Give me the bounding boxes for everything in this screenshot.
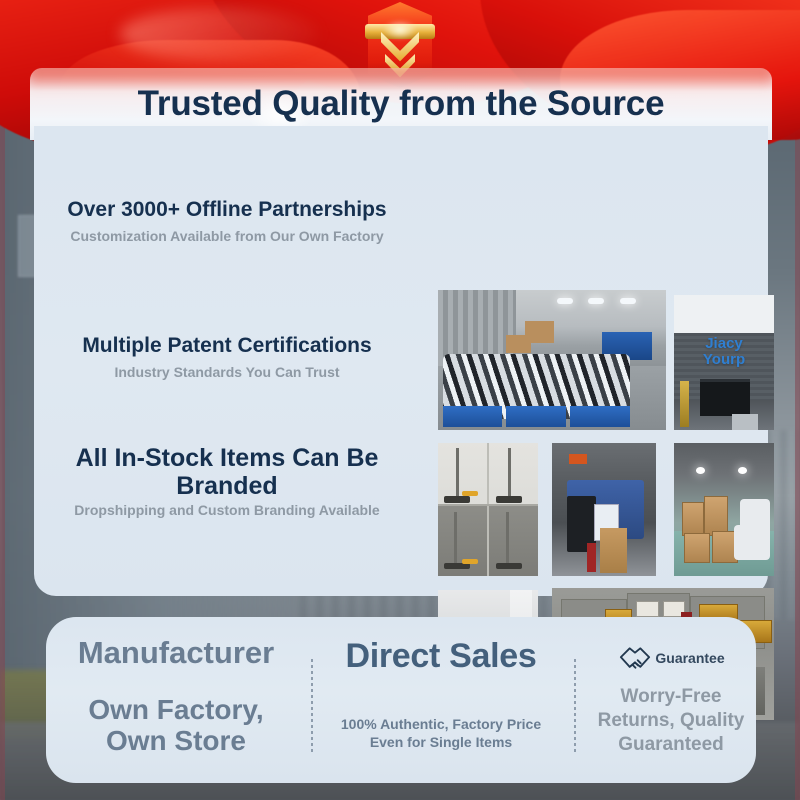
factory-facade-photo: JiacyYourp	[674, 295, 774, 430]
direct-sales-detail: 100% Authentic, Factory PriceEven for Si…	[301, 715, 581, 751]
warehouse-auto-parts-photo	[438, 290, 666, 430]
feature-heading: All In-Stock Items Can Be Branded	[42, 444, 412, 500]
feature-subheading: Dropshipping and Custom Branding Availab…	[42, 502, 412, 520]
handshake-icon	[617, 643, 653, 673]
injection-molding-machine-photo	[552, 443, 656, 576]
features-card: Over 3000+ Offline Partnerships Customiz…	[34, 138, 768, 596]
feature-subheading: Customization Available from Our Own Fac…	[42, 228, 412, 246]
own-factory-store-label: Own Factory,Own Store	[56, 694, 296, 757]
guarantee-card: Manufacturer Own Factory,Own Store Direc…	[46, 617, 756, 783]
feature-subheading: Industry Standards You Can Trust	[42, 364, 412, 382]
photo-watermark: JiacyYourp	[674, 336, 774, 370]
guarantee-label: Guarantee	[655, 650, 724, 666]
feature-list: Over 3000+ Offline Partnerships Customiz…	[42, 146, 412, 586]
feature-item-patents: Multiple Patent Certifications Industry …	[42, 334, 412, 381]
feature-heading: Over 3000+ Offline Partnerships	[42, 198, 412, 222]
product-display-shelf-photo	[438, 443, 538, 576]
divider-right	[574, 659, 576, 755]
feature-heading: Multiple Patent Certifications	[42, 334, 412, 358]
carton-storage-warehouse-photo	[674, 443, 774, 576]
guarantee-block: Guarantee Worry-FreeReturns, QualityGuar…	[591, 641, 751, 756]
manufacturer-label: Manufacturer	[56, 637, 296, 670]
feature-item-branding: All In-Stock Items Can Be Branded Dropsh…	[42, 444, 412, 520]
feature-item-partnerships: Over 3000+ Offline Partnerships Customiz…	[42, 198, 412, 245]
manufacturer-block: Manufacturer Own Factory,Own Store	[56, 637, 296, 756]
guarantee-detail: Worry-FreeReturns, QualityGuaranteed	[591, 685, 751, 756]
promo-banner: Trusted Quality from the Source Over 300…	[0, 0, 800, 800]
direct-sales-headline: Direct Sales	[301, 639, 581, 675]
direct-sales-block: Direct Sales 100% Authentic, Factory Pri…	[301, 639, 581, 751]
